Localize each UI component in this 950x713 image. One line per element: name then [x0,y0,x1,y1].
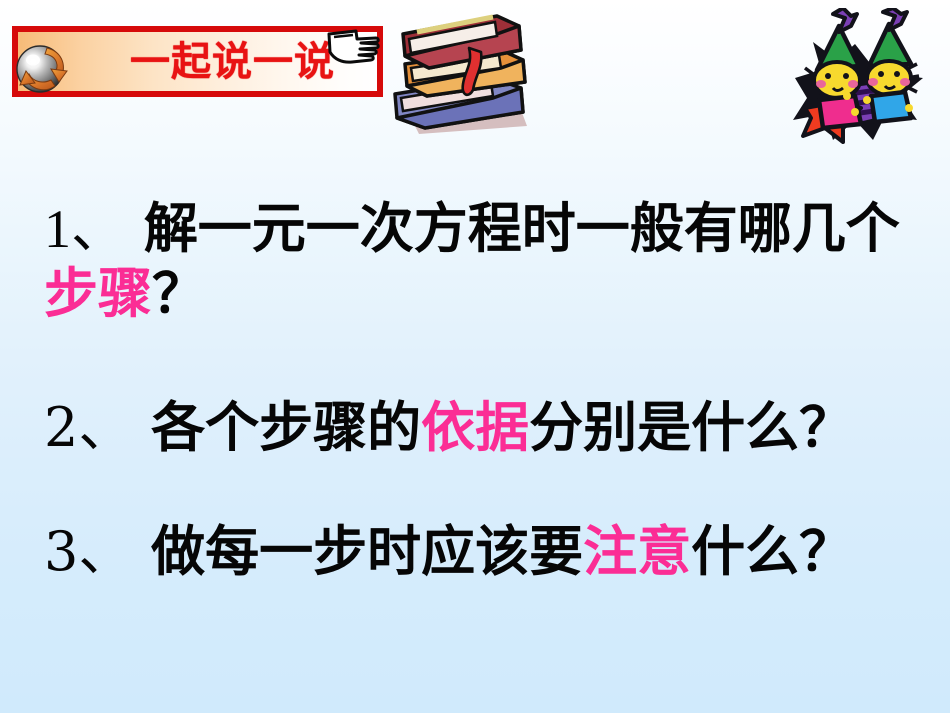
question-3-text-part-2: 什么？ [691,519,853,583]
question-3-number: 3、 [44,520,132,583]
question-3-text-part-1: 做每一步时应该要 [151,519,583,583]
question-1-text-part-2: ？ [152,261,206,325]
question-2-highlight: 依据 [421,395,529,459]
pointing-hand-icon [326,27,380,71]
question-2-number: 2、 [44,396,132,459]
question-item-2: 2、 各个步骤的依据分别是什么？ [44,395,914,460]
question-2-text-part-2: 分别是什么？ [529,395,853,459]
question-1-highlight: 步骤 [44,261,152,325]
two-children-star-icon [777,8,929,156]
question-3-highlight: 注意 [583,519,691,583]
book-stack-icon [381,6,530,139]
question-item-3: 3、 做每一步时应该要注意什么？ [44,519,914,584]
question-item-1: 1、 解一元一次方程时一般有哪几个步骤？ [44,196,904,325]
question-1-text-part-1: 解一元一次方程时一般有哪几个 [144,196,900,260]
question-1-number: 1、 [44,199,125,259]
question-2-text-part-1: 各个步骤的 [151,395,421,459]
slide-canvas: 一起说一说 [0,0,950,713]
chrome-sphere-icon [13,38,71,96]
